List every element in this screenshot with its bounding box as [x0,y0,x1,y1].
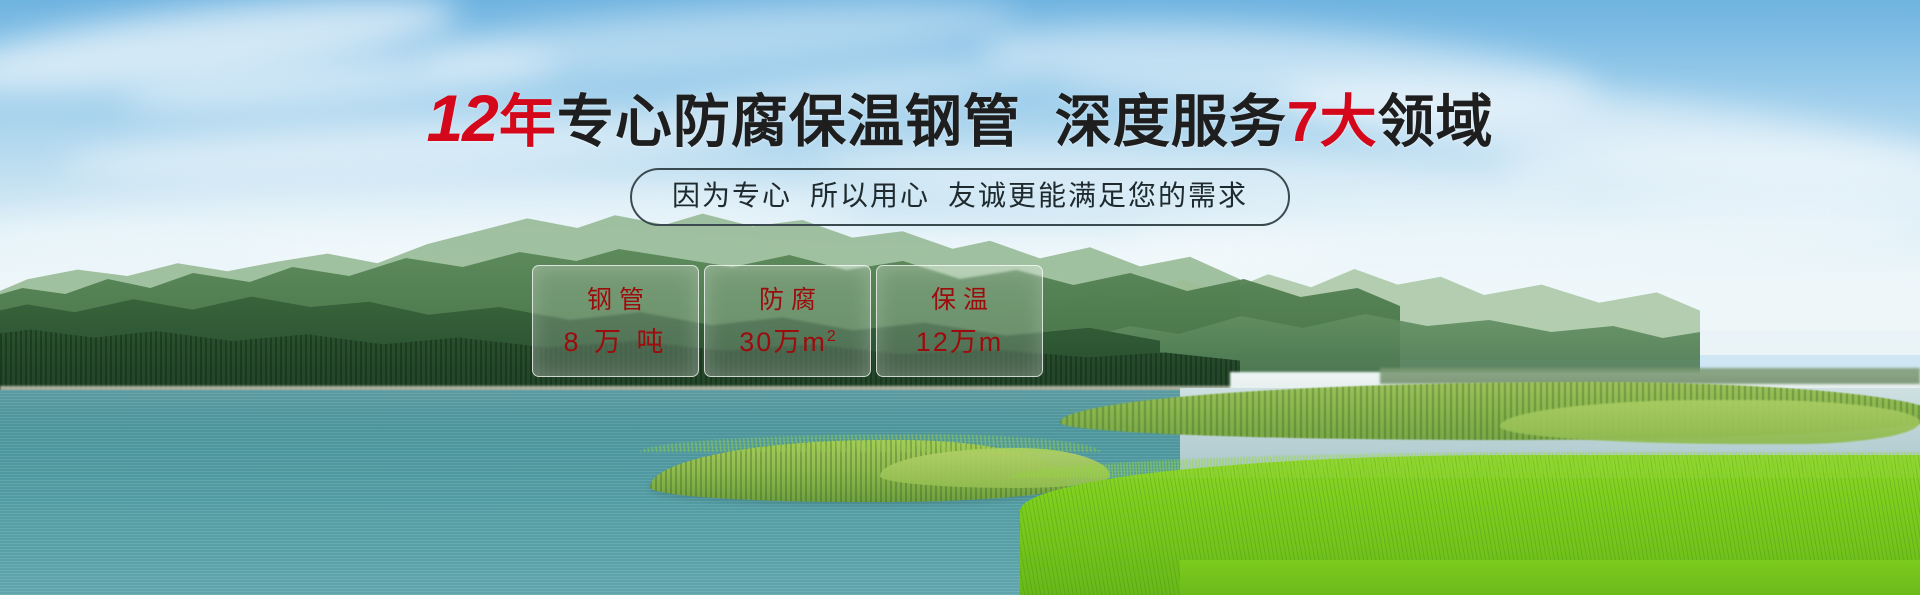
stat-card: 保温 12万m [876,265,1043,377]
stat-card-label: 保温 [924,285,995,315]
stat-card-label: 钢管 [580,285,651,315]
stat-card-list: 钢管 8 万 吨 防腐 30万m2 保温 12万m [532,265,1043,377]
stat-card-value-main: 12万m [916,327,1004,357]
stat-card-value: 8 万 吨 [563,327,667,357]
subtitle-container: 因为专心所以用心友诚更能满足您的需求 [0,168,1920,226]
headline-highlight-number: 7 [1287,90,1320,154]
subtitle-segment-3: 友诚更能满足您的需求 [948,180,1248,211]
stat-card-value-main: 30万m [739,327,827,357]
subtitle-pill: 因为专心所以用心友诚更能满足您的需求 [630,168,1290,226]
headline-part-1: 专心防腐保温钢管 [557,90,1021,154]
stat-card-value-main: 8 万 吨 [563,327,667,357]
headline: 12年专心防腐保温钢管深度服务7大领域 [0,86,1920,154]
headline-part-3: 领域 [1378,90,1494,154]
stat-card-value-superscript: 2 [827,328,836,345]
stat-card: 防腐 30万m2 [704,265,871,377]
hero-banner: 12年专心防腐保温钢管深度服务7大领域 因为专心所以用心友诚更能满足您的需求 钢… [0,0,1920,595]
headline-part-2: 深度服务 [1055,90,1287,154]
stat-card: 钢管 8 万 吨 [532,265,699,377]
stat-card-value: 30万m2 [739,327,835,357]
stat-card-label: 防腐 [752,285,823,315]
stat-card-value: 12万m [916,327,1004,357]
headline-highlight-word: 大 [1320,90,1378,154]
headline-years-unit: 年 [499,90,557,154]
headline-years-number: 12 [426,81,497,155]
subtitle-segment-2: 所以用心 [810,180,930,211]
subtitle-segment-1: 因为专心 [672,180,792,211]
banner-content: 12年专心防腐保温钢管深度服务7大领域 因为专心所以用心友诚更能满足您的需求 钢… [0,0,1920,595]
